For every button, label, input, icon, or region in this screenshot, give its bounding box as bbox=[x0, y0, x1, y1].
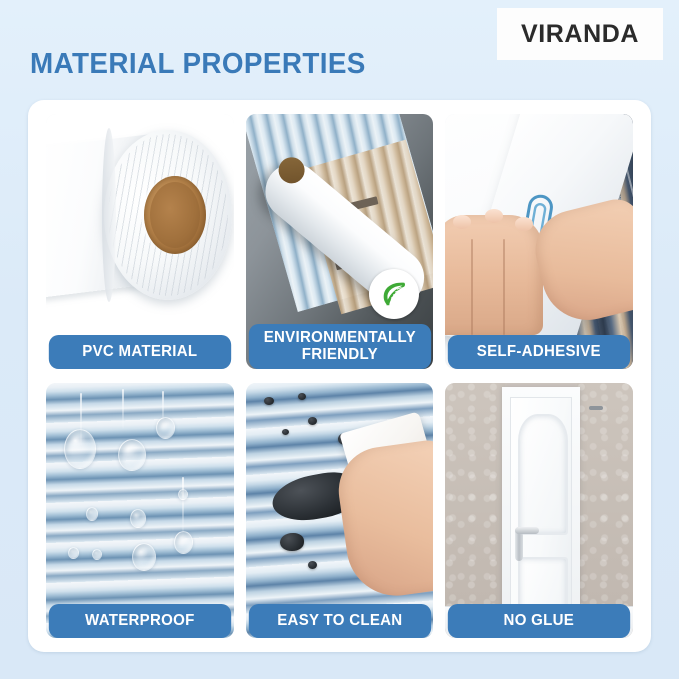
feature-cell-no-glue[interactable]: NO GLUE bbox=[445, 383, 633, 638]
water-streak-2 bbox=[122, 389, 124, 429]
roll-edge-shape bbox=[102, 128, 116, 302]
water-drop-10 bbox=[178, 489, 188, 500]
stain-dot-6 bbox=[280, 533, 304, 551]
features-grid: PVC MATERIAL bbox=[46, 114, 633, 638]
pvc-roll-image bbox=[46, 114, 234, 369]
waterproof-image bbox=[46, 383, 234, 638]
features-card: PVC MATERIAL bbox=[28, 100, 651, 652]
feature-cell-waterproof[interactable]: WATERPROOF bbox=[46, 383, 234, 638]
water-streak-4 bbox=[182, 477, 184, 537]
easy-to-clean-image bbox=[246, 383, 434, 638]
brand-logo-box: VIRANDA bbox=[497, 8, 663, 60]
water-drop-1 bbox=[64, 429, 96, 469]
left-hand bbox=[445, 215, 543, 335]
door-top-marker bbox=[589, 406, 603, 410]
feature-cell-easy-to-clean[interactable]: EASY TO CLEAN bbox=[246, 383, 434, 638]
stain-dot-4 bbox=[282, 429, 289, 435]
door-leaf bbox=[510, 397, 573, 625]
stain-dot-1 bbox=[264, 397, 274, 405]
door-panel-top bbox=[518, 414, 568, 536]
water-drop-2 bbox=[118, 439, 146, 471]
feature-cell-self-adhesive[interactable]: SELF-ADHESIVE bbox=[445, 114, 633, 369]
feature-cell-environmentally-friendly[interactable]: ENVIRONMENTALLY FRIENDLY bbox=[246, 114, 434, 369]
brand-name: VIRANDA bbox=[521, 20, 639, 49]
leaf-icon bbox=[379, 279, 409, 309]
feature-label-waterproof: WATERPROOF bbox=[49, 604, 231, 638]
water-drop-7 bbox=[174, 531, 193, 554]
hand-holding-cloth bbox=[333, 438, 433, 602]
stain-dot-3 bbox=[308, 417, 317, 425]
stain-dot-7 bbox=[308, 561, 317, 569]
water-drop-5 bbox=[86, 507, 98, 521]
page-title: MATERIAL PROPERTIES bbox=[30, 48, 366, 81]
wall-right bbox=[577, 383, 633, 638]
door-handle-lever bbox=[515, 527, 539, 534]
water-drop-3 bbox=[156, 417, 175, 439]
self-adhesive-image bbox=[445, 114, 633, 369]
feature-label-easy-to-clean: EASY TO CLEAN bbox=[248, 604, 430, 638]
stain-dot-2 bbox=[298, 393, 306, 400]
feature-label-self-adhesive: SELF-ADHESIVE bbox=[448, 335, 630, 369]
product-infographic-page: VIRANDA MATERIAL PROPERTIES PVC MATERIAL bbox=[0, 0, 679, 679]
leaf-badge bbox=[369, 269, 419, 319]
feature-cell-pvc-material[interactable]: PVC MATERIAL bbox=[46, 114, 234, 369]
water-drop-8 bbox=[68, 547, 79, 559]
water-drop-4 bbox=[130, 509, 146, 528]
water-drop-9 bbox=[92, 549, 102, 560]
feature-label-environmentally-friendly: ENVIRONMENTALLY FRIENDLY bbox=[248, 324, 430, 369]
feature-label-no-glue: NO GLUE bbox=[448, 604, 630, 638]
roll-core-inner-shape bbox=[150, 182, 200, 248]
feature-label-pvc-material: PVC MATERIAL bbox=[49, 335, 231, 369]
no-glue-door-image bbox=[445, 383, 633, 638]
wall-left bbox=[445, 383, 505, 638]
water-drop-6 bbox=[132, 543, 156, 571]
